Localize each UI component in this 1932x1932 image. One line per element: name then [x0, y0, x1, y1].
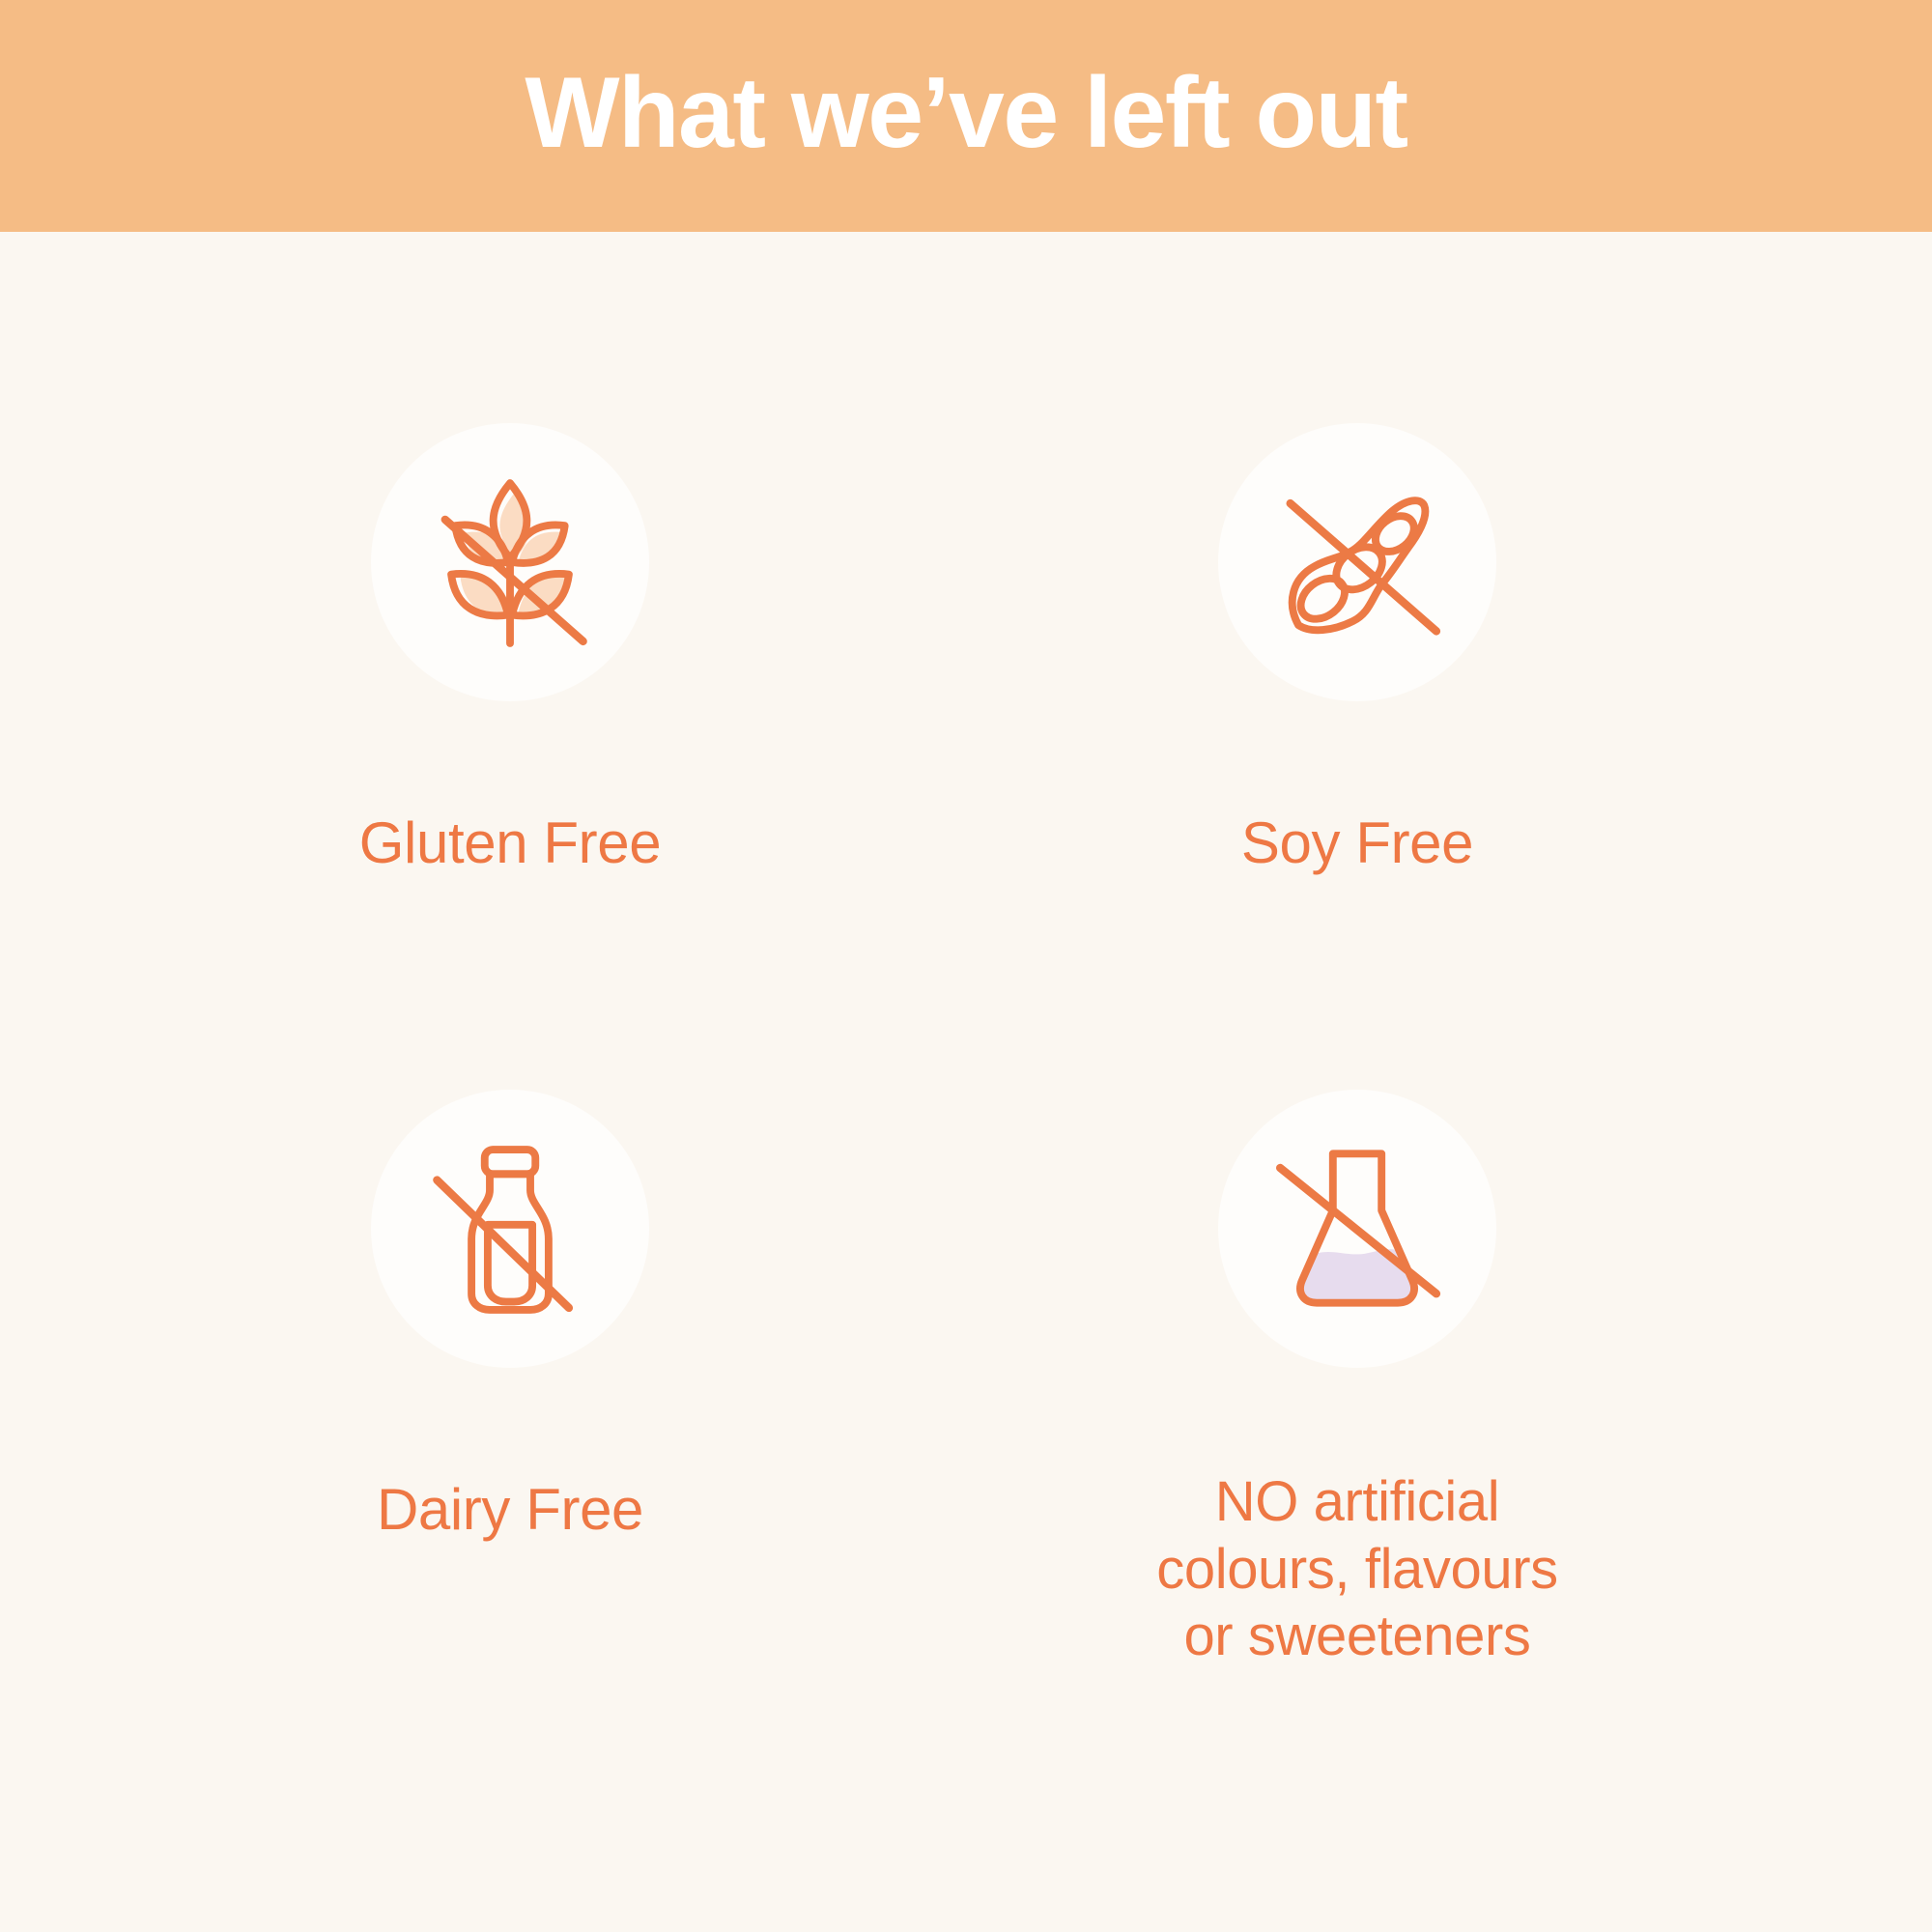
- icon-badge-no-artificial: [1218, 1090, 1496, 1368]
- grid-item-dairy-free: Dairy Free: [95, 1090, 925, 1544]
- lab-flask-crossed-out-icon: [1256, 1127, 1459, 1330]
- wheat-stalk-crossed-out-icon: [409, 461, 611, 664]
- icon-badge-soy-free: [1218, 423, 1496, 701]
- soybean-pod-crossed-out-icon: [1256, 461, 1459, 664]
- grid-item-label: Gluten Free: [359, 810, 661, 877]
- page-header: What we’ve left out: [0, 0, 1932, 232]
- grid-item-label: Dairy Free: [377, 1476, 643, 1544]
- grid-item-no-artificial: NO artificial colours, flavours or sweet…: [942, 1090, 1773, 1670]
- grid-item-label: NO artificial colours, flavours or sweet…: [1156, 1468, 1557, 1670]
- grid-item-soy-free: Soy Free: [942, 423, 1773, 877]
- free-from-grid: Gluten Free Soy Free: [0, 232, 1932, 1932]
- icon-badge-dairy-free: [371, 1090, 649, 1368]
- grid-item-gluten-free: Gluten Free: [95, 423, 925, 877]
- icon-badge-gluten-free: [371, 423, 649, 701]
- grid-item-label: Soy Free: [1241, 810, 1473, 877]
- page-title: What we’ve left out: [525, 63, 1406, 169]
- milk-bottle-crossed-out-icon: [409, 1127, 611, 1330]
